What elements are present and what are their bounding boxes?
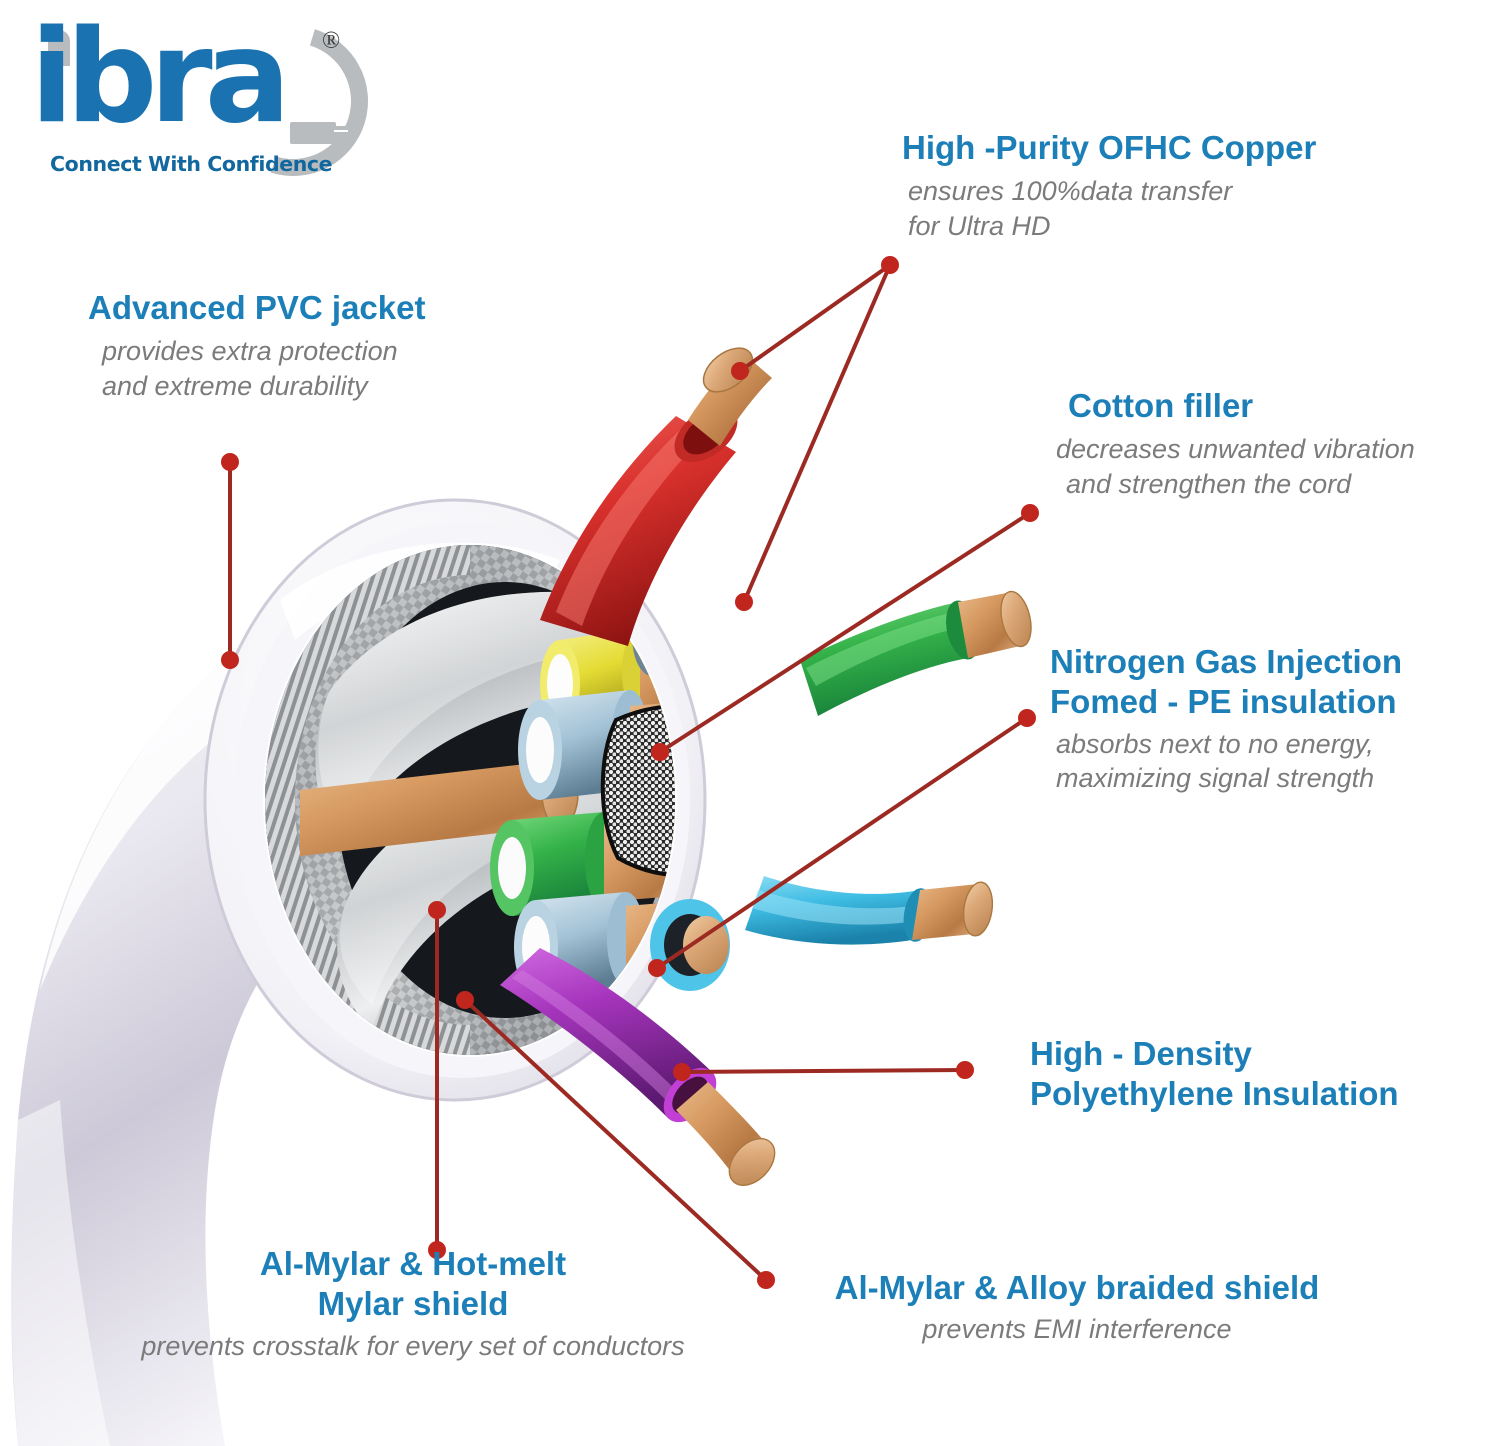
callout-title: Al-Mylar & Alloy braided shield [792,1268,1362,1308]
callout-pvc-jacket: Advanced PVC jacket provides extra prote… [88,288,425,403]
leader-hdpe [673,1061,974,1081]
conductor-copper-c [700,570,790,658]
callout-subtitle-line-1: absorbs next to no energy, [1056,727,1402,762]
callout-title-line-2: Mylar shield [118,1284,708,1324]
callout-ofhc-copper: High -Purity OFHC Copper ensures 100%dat… [902,128,1316,243]
callout-cotton-filler: Cotton filler decreases unwanted vibrati… [1056,386,1415,501]
callout-title-line-2: Fomed - PE insulation [1050,682,1402,722]
callout-subtitle-line-1: prevents crosstalk for every set of cond… [118,1329,708,1364]
callout-title: High -Purity OFHC Copper [902,128,1316,168]
callout-title-line-2: Polyethylene Insulation [1030,1074,1399,1114]
callout-subtitle-line-1: provides extra protection [102,334,425,369]
callout-subtitle-line-2: and extreme durability [102,369,425,404]
callout-subtitle-line-1: ensures 100%data transfer [908,174,1316,209]
leader-ofhc-copper [731,256,899,611]
conductor-amber [740,790,866,878]
callout-title: Advanced PVC jacket [88,288,425,328]
infographic-canvas: ibra ® Connect With Confidence [0,0,1500,1446]
conductor-cyan-protruding [745,876,996,945]
callout-title-line-1: Nitrogen Gas Injection [1050,642,1402,682]
callout-title-line-1: Al-Mylar & Hot-melt [118,1244,708,1284]
callout-subtitle-line-2: and strengthen the cord [1066,467,1415,502]
callout-nitrogen-pe: Nitrogen Gas Injection Fomed - PE insula… [1050,642,1402,796]
leader-pvc-jacket [221,453,239,669]
callout-subtitle-line-1: decreases unwanted vibration [1056,432,1415,467]
callout-title: Cotton filler [1068,386,1415,426]
callout-subtitle-line-2: for Ultra HD [908,209,1316,244]
callout-hdpe: High - Density Polyethylene Insulation [1030,1034,1399,1115]
callout-mylar-shield: Al-Mylar & Hot-melt Mylar shield prevent… [118,1244,708,1363]
callout-braided-shield: Al-Mylar & Alloy braided shield prevents… [792,1268,1362,1347]
callout-subtitle-line-2: maximizing signal strength [1056,761,1402,796]
callout-subtitle-line-1: prevents EMI interference [792,1312,1362,1347]
conductor-green-protruding [800,589,1036,716]
callout-title-line-1: High - Density [1030,1034,1399,1074]
